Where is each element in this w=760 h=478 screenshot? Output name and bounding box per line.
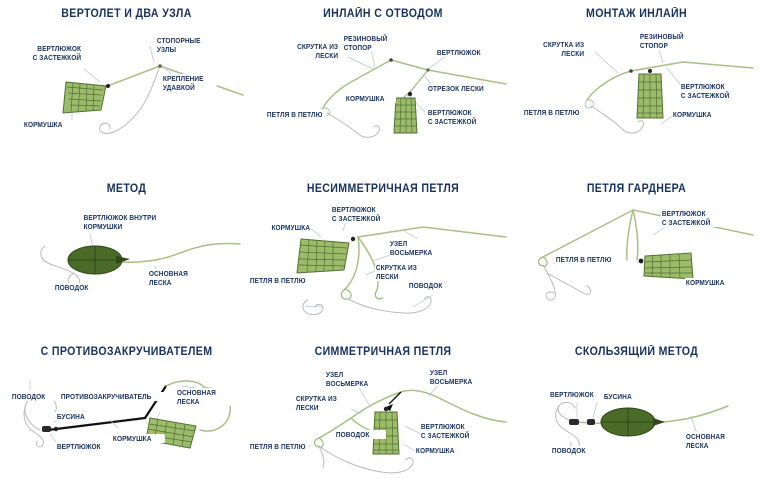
method-feeder [68, 246, 130, 274]
label-main-line: ОСНОВНАЯ ЛЕСКА [176, 388, 231, 406]
label-loop-to-loop: ПЕТЛЯ В ПЕТЛЮ [249, 442, 309, 451]
swivel [569, 419, 579, 425]
label-swivel: ВЕРТЛЮЖОК [56, 442, 112, 451]
panel-simmetrichnaya-petlya: СИММЕТРИЧНАЯ ПЕТЛЯ [253, 330, 513, 478]
feeder-basket [297, 239, 349, 273]
label-line-twist: СКРУТКА ИЗ ЛЕСКИ [283, 42, 339, 60]
label-line-twist: СКРУТКА ИЗ ЛЕСКИ [375, 263, 431, 281]
label-line-twist: СКРУТКА ИЗ ЛЕСКИ [295, 394, 351, 412]
label-figure-eight-knot-right: УЗЕЛ ВОСЬМЕРКА [429, 368, 485, 386]
label-figure-eight-knot: УЗЕЛ ВОСЬМЕРКА [389, 239, 445, 257]
label-feeder: КОРМУШКА [672, 110, 725, 119]
label-feeder: КОРМУШКА [258, 223, 311, 232]
panel-s-protivozakruchivatelem: С ПРОТИВОЗАКРУЧИВАТЕЛЕМ ПОВОДОК [0, 330, 253, 478]
feeder-basket [637, 74, 663, 118]
label-bead: БУСИНА [56, 412, 105, 421]
label-swivel: ВЕРТЛЮЖОК [436, 48, 494, 57]
label-feeder: КОРМУШКА [685, 278, 738, 287]
label-line-segment: ОТРЕЗОК ЛЕСКИ [427, 84, 497, 93]
label-leader: ПОВОДОК [551, 446, 604, 455]
label-loop-to-loop: ПЕТЛЯ В ПЕТЛЮ [523, 108, 583, 117]
label-swivel-with-clasp: ВЕРТЛЮЖОК С ЗАСТЕЖКОЙ [331, 205, 387, 223]
label-swivel-with-clasp: ВЕРТЛЮЖОК С ЗАСТЕЖКОЙ [22, 44, 82, 62]
label-loop-to-loop: ПЕТЛЯ В ПЕТЛЮ [249, 276, 309, 285]
label-main-line: ОСНОВНАЯ ЛЕСКА [148, 269, 201, 287]
bead [42, 426, 51, 432]
label-leader: ПОВОДОК [11, 392, 62, 401]
feeder-basket [63, 82, 106, 113]
label-swivel-with-clasp: ВЕРТЛЮЖОК С ЗАСТЕЖКОЙ [680, 82, 743, 100]
panel-petlya-gardnera: ПЕТЛЯ ГАРДНЕРА ВЕРТЛЮЖОК С ЗАСТЕЖКОЙ ПЕТ… [513, 165, 760, 330]
label-swivel-with-clasp: ВЕРТЛЮЖОК С ЗАСТЕЖКОЙ [427, 108, 489, 126]
label-noose-attachment: КРЕПЛЕНИЕ УДАВКОЙ [162, 74, 217, 92]
panel-inline-s-otvodom: ИНЛАЙН С ОТВОДОМ СКРУТКА ИЗ ЛЕСКИ [253, 0, 513, 160]
label-stopper-knots: СТОПОРНЫЕ УЗЛЫ [156, 36, 211, 54]
rig-diagram-gardner [513, 165, 760, 330]
label-feeder: КОРМУШКА [415, 446, 468, 455]
label-swivel: ВЕРТЛЮЖОК [549, 390, 609, 399]
label-swivel-inside-feeder: ВЕРТЛЮЖОК ВНУТРИ КОРМУШКИ [83, 213, 182, 231]
panel-montazh-inline: МОНТАЖ ИНЛАЙН СКРУТКА ИЗ ЛЕСКИ РЕЗИНОВЫЙ… [513, 0, 760, 160]
panel-nesimmetrichnaya-petlya: НЕСИММЕТРИЧНАЯ ПЕТЛЯ [253, 165, 513, 330]
rig-diagram-simmetrichnaya [253, 330, 513, 478]
label-swivel-with-clasp: ВЕРТЛЮЖОК С ЗАСТЕЖКОЙ [661, 209, 723, 227]
label-anti-tangle-boom: ПРОТИВОЗАКРУЧИВАТЕЛЬ [60, 392, 167, 401]
feeder-basket [394, 98, 417, 133]
label-feeder: КОРМУШКА [345, 94, 396, 103]
label-leader: ПОВОДОК [408, 281, 457, 290]
rig-diagram-inline-otvod [253, 0, 513, 160]
label-swivel-with-clasp: ВЕРТЛЮЖОК С ЗАСТЕЖКОЙ [420, 422, 482, 440]
rig-diagram-metod [0, 165, 253, 325]
feeder-basket [146, 418, 196, 448]
label-leader: ПОВОДОК [335, 430, 386, 439]
label-loop-to-loop: ПЕТЛЯ В ПЕТЛЮ [555, 255, 615, 264]
feeder-rigs-infographic: ВЕРТОЛЕТ И ДВА УЗЛА ВЕРТЛЮЖОК С ЗАСТЕЖКО… [0, 0, 760, 478]
method-feeder [601, 408, 665, 436]
rig-diagram-montazh-inline [513, 0, 760, 160]
label-figure-eight-knot-left: УЗЕЛ ВОСЬМЕРКА [325, 370, 381, 388]
label-line-twist: СКРУТКА ИЗ ЛЕСКИ [529, 40, 585, 58]
label-rubber-stopper: РЕЗИНОВЫЙ СТОПОР [343, 34, 399, 52]
label-feeder: КОРМУШКА [23, 120, 72, 129]
label-loop-to-loop: ПЕТЛЯ В ПЕТЛЮ [266, 110, 326, 119]
label-main-line: ОСНОВНАЯ ЛЕСКА [685, 432, 740, 450]
feeder-basket [644, 253, 693, 279]
panel-skolzyashchiy-metod: СКОЛЬЗЯЩИЙ МЕТОД ВЕРТЛЮЖОК БУСИНА ПОВОДО… [513, 330, 760, 478]
rig-diagram-nesimmetrichnaya [253, 165, 513, 330]
label-bead: БУСИНА [603, 392, 654, 401]
panel-vertolet-dva-uzla: ВЕРТОЛЕТ И ДВА УЗЛА ВЕРТЛЮЖОК С ЗАСТЕЖКО… [0, 0, 253, 160]
bead [587, 419, 595, 425]
label-rubber-stopper: РЕЗИНОВЫЙ СТОПОР [639, 32, 695, 50]
rig-diagram-skolzyashchiy [513, 330, 760, 478]
label-feeder: КОРМУШКА [112, 434, 165, 443]
panel-metod: МЕТОД ВЕРТЛЮЖОК ВНУТРИ КОРМУШКИ ПОВОДОК … [0, 165, 253, 325]
label-leader: ПОВОДОК [54, 283, 103, 292]
